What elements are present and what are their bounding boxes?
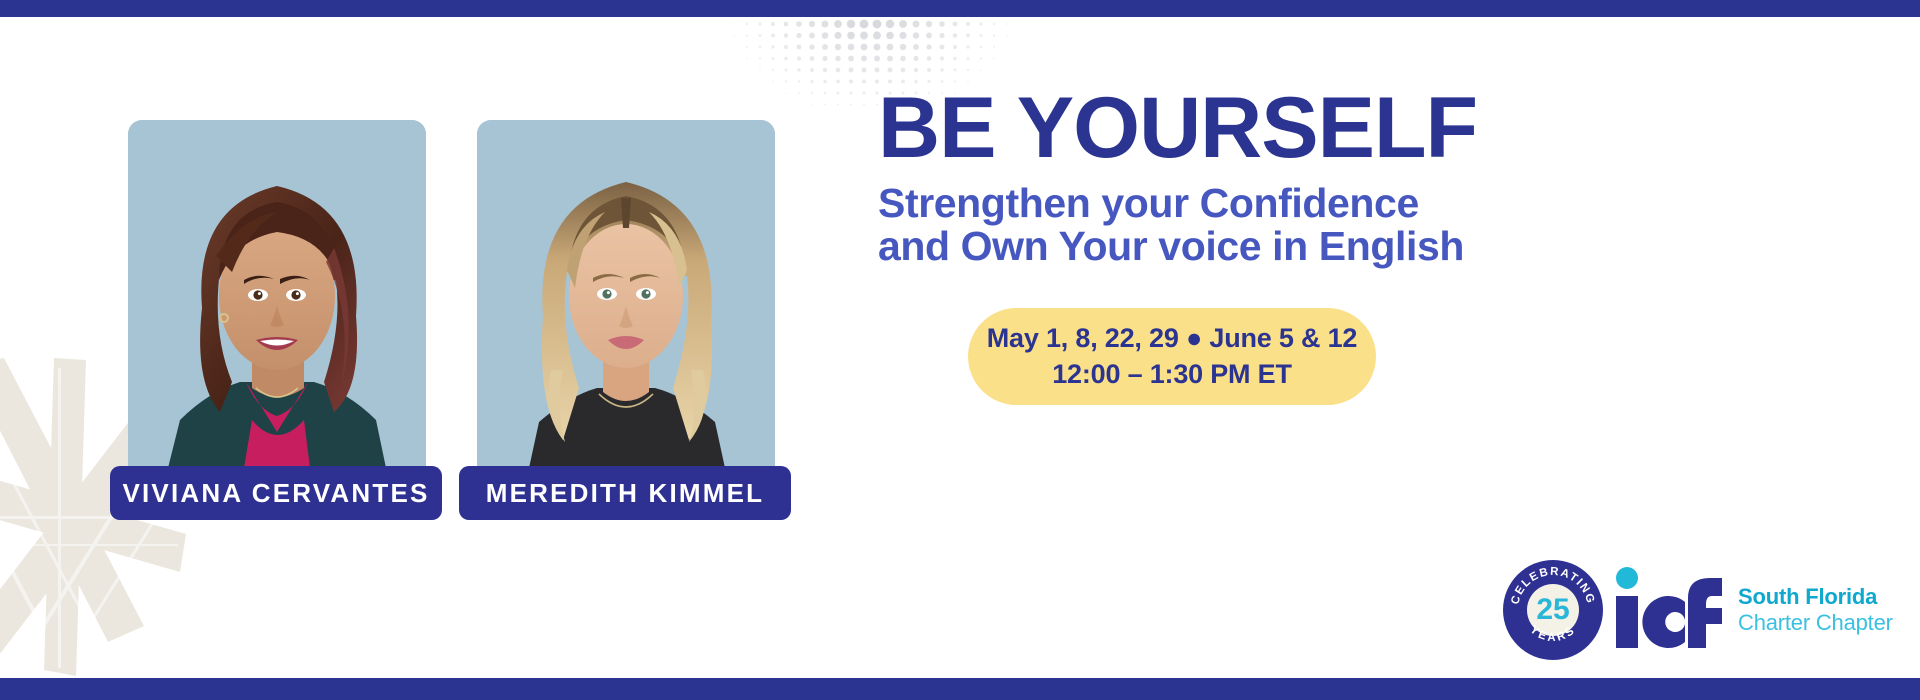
celebrating-25-years-badge-icon: CELEBRATING YEARS 25	[1500, 557, 1606, 663]
speaker-name-plate: MEREDITH KIMMEL	[459, 466, 791, 520]
speaker-photo-meredith-kimmel	[477, 120, 775, 468]
subheadline-line-2: and Own Your voice in English	[878, 225, 1464, 268]
headline: BE YOURSELF	[878, 86, 1477, 170]
speaker-photo-group: VIVIANA CERVANTES	[0, 0, 960, 700]
chapter-line-1: South Florida	[1738, 584, 1893, 610]
speaker-name-plate: VIVIANA CERVANTES	[110, 466, 442, 520]
chapter-line-2: Charter Chapter	[1738, 610, 1893, 636]
subheadline: Strengthen your Confidence and Own Your …	[878, 182, 1464, 269]
bottom-accent-bar	[0, 678, 1920, 700]
content-column: BE YOURSELF Strengthen your Confidence a…	[878, 0, 1920, 700]
speaker-photo-viviana-cervantes	[128, 120, 426, 468]
chapter-name: South Florida Charter Chapter	[1738, 584, 1893, 636]
icf-dot	[1616, 567, 1638, 589]
promo-banner: VIVIANA CERVANTES	[0, 0, 1920, 700]
subheadline-line-1: Strengthen your Confidence	[878, 182, 1464, 225]
date-time-badge: May 1, 8, 22, 29 ● June 5 & 12 12:00 – 1…	[968, 308, 1376, 405]
badge-time: 12:00 – 1:30 PM ET	[1052, 358, 1292, 392]
icf-logo-lockup: CELEBRATING YEARS 25	[1500, 552, 1920, 668]
badge-dates: May 1, 8, 22, 29 ● June 5 & 12	[987, 322, 1358, 356]
badge-number: 25	[1536, 593, 1569, 626]
icf-wordmark-icon	[1612, 564, 1724, 656]
